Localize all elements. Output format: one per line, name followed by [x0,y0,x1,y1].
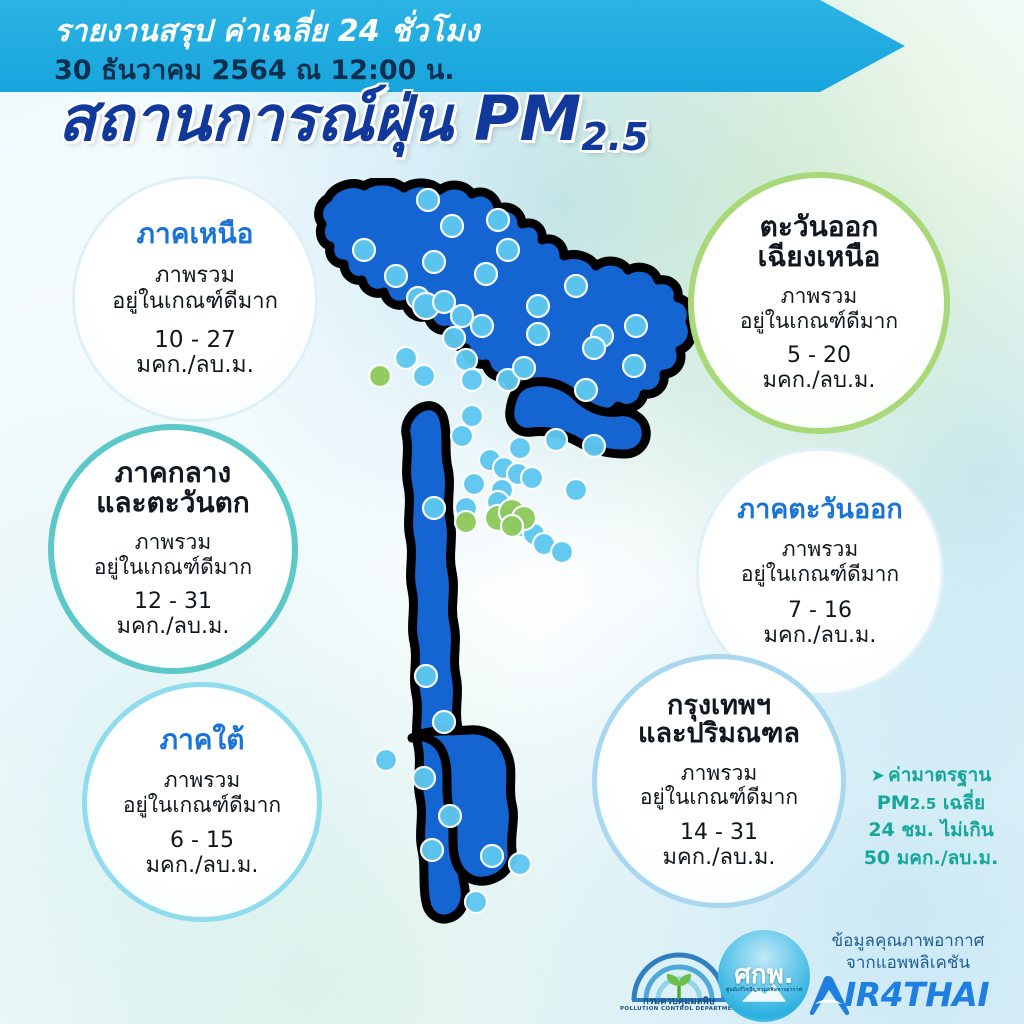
region-desc-line1: ภาพรวม [740,284,898,309]
page-title: สถานการณ์ฝุ่น PM2.5 [58,88,649,150]
region-value-bangkok: 14 - 31 มคก./ลบ.ม. [663,821,776,870]
skp-arc-text: ศูนย์แก้ไขปัญหามลพิษทางอากาศ [718,986,810,994]
region-desc-central-west: ภาพรวม อยู่ในเกณฑ์ดีมาก [94,530,252,580]
pm25-standard-note: ➤ค่ามาตรฐาน PM2.5 เฉลี่ย 24 ชม. ไม่เกิน … [838,762,1024,872]
region-desc-line1: ภาพรวม [112,263,278,289]
region-bubble-north[interactable]: ภาคเหนือ ภาพรวม อยู่ในเกณฑ์ดีมาก 10 - 27… [72,176,318,422]
app-source-note: ข้อมูลคุณภาพอากาศ จากแอพพลิเคชัน [800,930,1016,974]
standard-note-line1: ค่ามาตรฐาน [888,764,991,786]
region-value-range: 6 - 15 [146,829,259,854]
region-bubble-bangkok[interactable]: กรุงเทพฯ และปริมณฑล ภาพรวม อยู่ในเกณฑ์ดี… [592,654,846,908]
region-desc-line2: อยู่ในเกณฑ์ดีมาก [123,793,281,818]
region-desc-east: ภาพรวม อยู่ในเกณฑ์ดีมาก [741,537,899,587]
region-name-line1: กรุงเทพฯ [638,692,800,721]
region-value-northeast: 5 - 20 มคก./ลบ.ม. [763,344,876,393]
region-name-north: ภาคเหนือ [137,219,254,249]
region-name-central-west: ภาคกลาง และตะวันตก [96,458,249,517]
standard-note-line3: 24 ชม. ไม่เกิน [838,817,1024,845]
arrow-right-icon: ➤ [871,766,885,786]
region-value-unit: มคก./ลบ.ม. [117,615,230,640]
region-value-unit: มคก./ลบ.ม. [146,854,259,879]
region-name-line1: ภาคใต้ [160,725,245,755]
region-value-unit: มคก./ลบ.ม. [136,353,254,379]
air4thai-logo[interactable]: IR4THAI [800,974,1016,1018]
region-value-unit: มคก./ลบ.ม. [663,846,776,871]
air4thai-wordmark: IR4THAI [844,975,989,1014]
region-desc-bangkok: ภาพรวม อยู่ในเกณฑ์ดีมาก [640,761,798,811]
pcd-name-english: POLLUTION CONTROL DEPARTMENT [620,1006,738,1012]
region-desc-line2: อยู่ในเกณฑ์ดีมาก [740,309,898,334]
infographic-root: รายงานสรุป ค่าเฉลี่ย 24 ชั่วโมง 30 ธันวา… [0,0,1024,1024]
region-name-line1: ภาคกลาง [96,458,249,488]
region-desc-line1: ภาพรวม [741,537,899,562]
region-desc-line2: อยู่ในเกณฑ์ดีมาก [741,562,899,587]
region-value-range: 10 - 27 [136,328,254,354]
standard-note-line4: 50 มคก./ลบ.ม. [838,845,1024,873]
region-name-line1: ภาคเหนือ [137,219,254,249]
region-name-line2: และปริมณฑล [638,720,800,749]
standard-note-pm-avg: เฉลี่ย [936,792,985,814]
standard-note-line2: PM2.5 เฉลี่ย [838,790,1024,818]
region-value-north: 10 - 27 มคก./ลบ.ม. [136,328,254,380]
region-value-range: 12 - 31 [117,590,230,615]
region-desc-line2: อยู่ในเกณฑ์ดีมาก [112,289,278,315]
region-bubble-northeast[interactable]: ตะวันออก เฉียงเหนือ ภาพรวม อยู่ในเกณฑ์ดี… [688,172,950,434]
region-desc-northeast: ภาพรวม อยู่ในเกณฑ์ดีมาก [740,284,898,334]
region-name-line2: เฉียงเหนือ [758,242,881,272]
region-desc-line2: อยู่ในเกณฑ์ดีมาก [94,555,252,580]
app-source-line2: จากแอพพลิเคชัน [800,952,1016,974]
region-value-unit: มคก./ลบ.ม. [764,624,877,649]
region-name-line1: ตะวันออก [758,212,881,242]
standard-note-line1-row: ➤ค่ามาตรฐาน [838,762,1024,790]
region-desc-south: ภาพรวม อยู่ในเกณฑ์ดีมาก [123,768,281,818]
region-desc-line1: ภาพรวม [123,768,281,793]
region-desc-line1: ภาพรวม [94,530,252,555]
region-value-south: 6 - 15 มคก./ลบ.ม. [146,829,259,878]
region-name-line1: ภาคตะวันออก [737,496,902,525]
region-value-range: 5 - 20 [763,344,876,369]
standard-note-pm-label: PM [877,792,910,814]
region-bubble-south[interactable]: ภาคใต้ ภาพรวม อยู่ในเกณฑ์ดีมาก 6 - 15 มค… [82,682,322,922]
page-title-subscript: 2.5 [581,115,648,159]
region-value-central-west: 12 - 31 มคก./ลบ.ม. [117,590,230,639]
region-value-unit: มคก./ลบ.ม. [763,369,876,394]
region-name-line2: และตะวันตก [96,488,249,518]
region-value-range: 7 - 16 [764,599,877,624]
app-source-line1: ข้อมูลคุณภาพอากาศ [800,930,1016,952]
region-desc-line1: ภาพรวม [640,761,798,786]
region-name-east: ภาคตะวันออก [737,496,902,525]
standard-note-pm-sub: 2.5 [910,795,937,813]
region-desc-north: ภาพรวม อยู่ในเกณฑ์ดีมาก [112,263,278,315]
region-name-northeast: ตะวันออก เฉียงเหนือ [758,212,881,271]
footer: กรมควบคุมมลพิษ POLLUTION CONTROL DEPARTM… [0,912,1024,1024]
region-name-south: ภาคใต้ [160,725,245,755]
region-value-range: 14 - 31 [663,821,776,846]
page-title-main: สถานการณ์ฝุ่น PM [58,82,581,155]
region-bubble-central-west[interactable]: ภาคกลาง และตะวันตก ภาพรวม อยู่ในเกณฑ์ดีม… [48,424,298,674]
region-name-bangkok: กรุงเทพฯ และปริมณฑล [638,692,800,749]
skp-air-pollution-center-logo: ศกพ. ศูนย์แก้ไขปัญหามลพิษทางอากาศ [718,930,810,1022]
region-value-east: 7 - 16 มคก./ลบ.ม. [764,599,877,648]
region-desc-line2: อยู่ในเกณฑ์ดีมาก [640,785,798,810]
